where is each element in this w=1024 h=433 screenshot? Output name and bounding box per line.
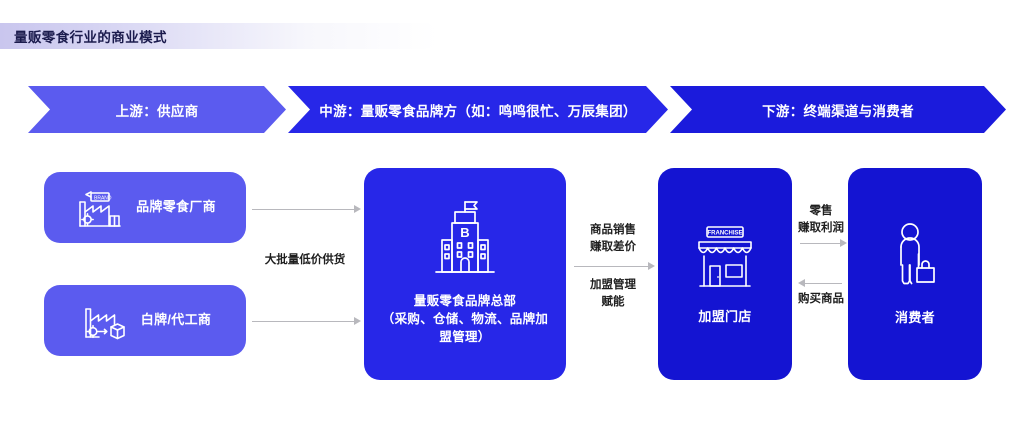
factory-brand-icon: BRAND — [74, 186, 126, 230]
arrow-head-franchise-to-consumer — [840, 239, 847, 247]
arrow-head-consumer-to-franchise — [798, 279, 805, 287]
page-title-bar: 量贩零食行业的商业模式 — [0, 23, 438, 49]
connector-line-brand-to-hq — [252, 209, 356, 210]
card-oem-manufacturer[interactable]: 白牌/代工商 — [44, 285, 246, 356]
arrow-head-hq-to-franchise — [648, 262, 655, 270]
svg-text:BRAND: BRAND — [94, 195, 112, 201]
banner-downstream: 下游：终端渠道与消费者 — [670, 86, 1006, 133]
card-oem-manufacturer-label: 白牌/代工商 — [141, 311, 211, 330]
card-consumer[interactable]: 消费者 — [848, 168, 982, 380]
page-title: 量贩零食行业的商业模式 — [14, 26, 167, 46]
connector-line-franchise-to-consumer — [800, 243, 842, 244]
connector-line-oem-to-hq — [252, 321, 356, 322]
connector-label-franchise-management: 加盟管理赋能 — [574, 277, 652, 310]
banner-downstream-label: 下游：终端渠道与消费者 — [762, 100, 914, 120]
connector-label-purchase-goods: 购买商品 — [790, 291, 852, 308]
banner-midstream-label: 中游：量贩零食品牌方（如：鸣鸣很忙、万辰集团） — [319, 100, 636, 120]
connector-line-consumer-to-franchise — [800, 283, 842, 284]
card-brand-snack-manufacturer-label: 品牌零食厂商 — [136, 198, 216, 217]
card-brand-snack-manufacturer[interactable]: BRAND 品牌零食厂商 — [44, 172, 246, 243]
banner-midstream: 中游：量贩零食品牌方（如：鸣鸣很忙、万辰集团） — [288, 86, 668, 133]
svg-text:B: B — [460, 225, 469, 240]
svg-text:FRANCHISE: FRANCHISE — [707, 230, 742, 236]
card-headquarters-label: 量贩零食品牌总部（采购、仓储、物流、品牌加盟管理） — [378, 292, 552, 346]
card-franchise-store[interactable]: FRANCHISE 加盟门店 — [658, 168, 792, 380]
arrow-head-oem-to-hq — [354, 317, 361, 325]
hq-building-icon: B — [422, 196, 508, 278]
connector-label-supply: 大批量低价供货 — [252, 252, 358, 269]
factory-box-icon — [79, 299, 131, 343]
connector-line-hq-to-franchise — [574, 266, 650, 267]
shopper-person-icon — [884, 221, 946, 293]
banner-upstream: 上游：供应商 — [28, 86, 286, 133]
storefront-icon: FRANCHISE — [687, 222, 763, 292]
connector-label-goods-sales: 商品销售赚取差价 — [574, 222, 652, 255]
card-franchise-store-label: 加盟门店 — [698, 308, 751, 327]
card-headquarters[interactable]: B 量贩零食品牌总部（采购、仓储、物流、品牌加盟管理） — [364, 168, 566, 380]
connector-label-retail-profit: 零售赚取利润 — [790, 203, 852, 236]
arrow-head-brand-to-hq — [354, 205, 361, 213]
banner-upstream-label: 上游：供应商 — [116, 100, 199, 120]
card-consumer-label: 消费者 — [895, 309, 935, 328]
